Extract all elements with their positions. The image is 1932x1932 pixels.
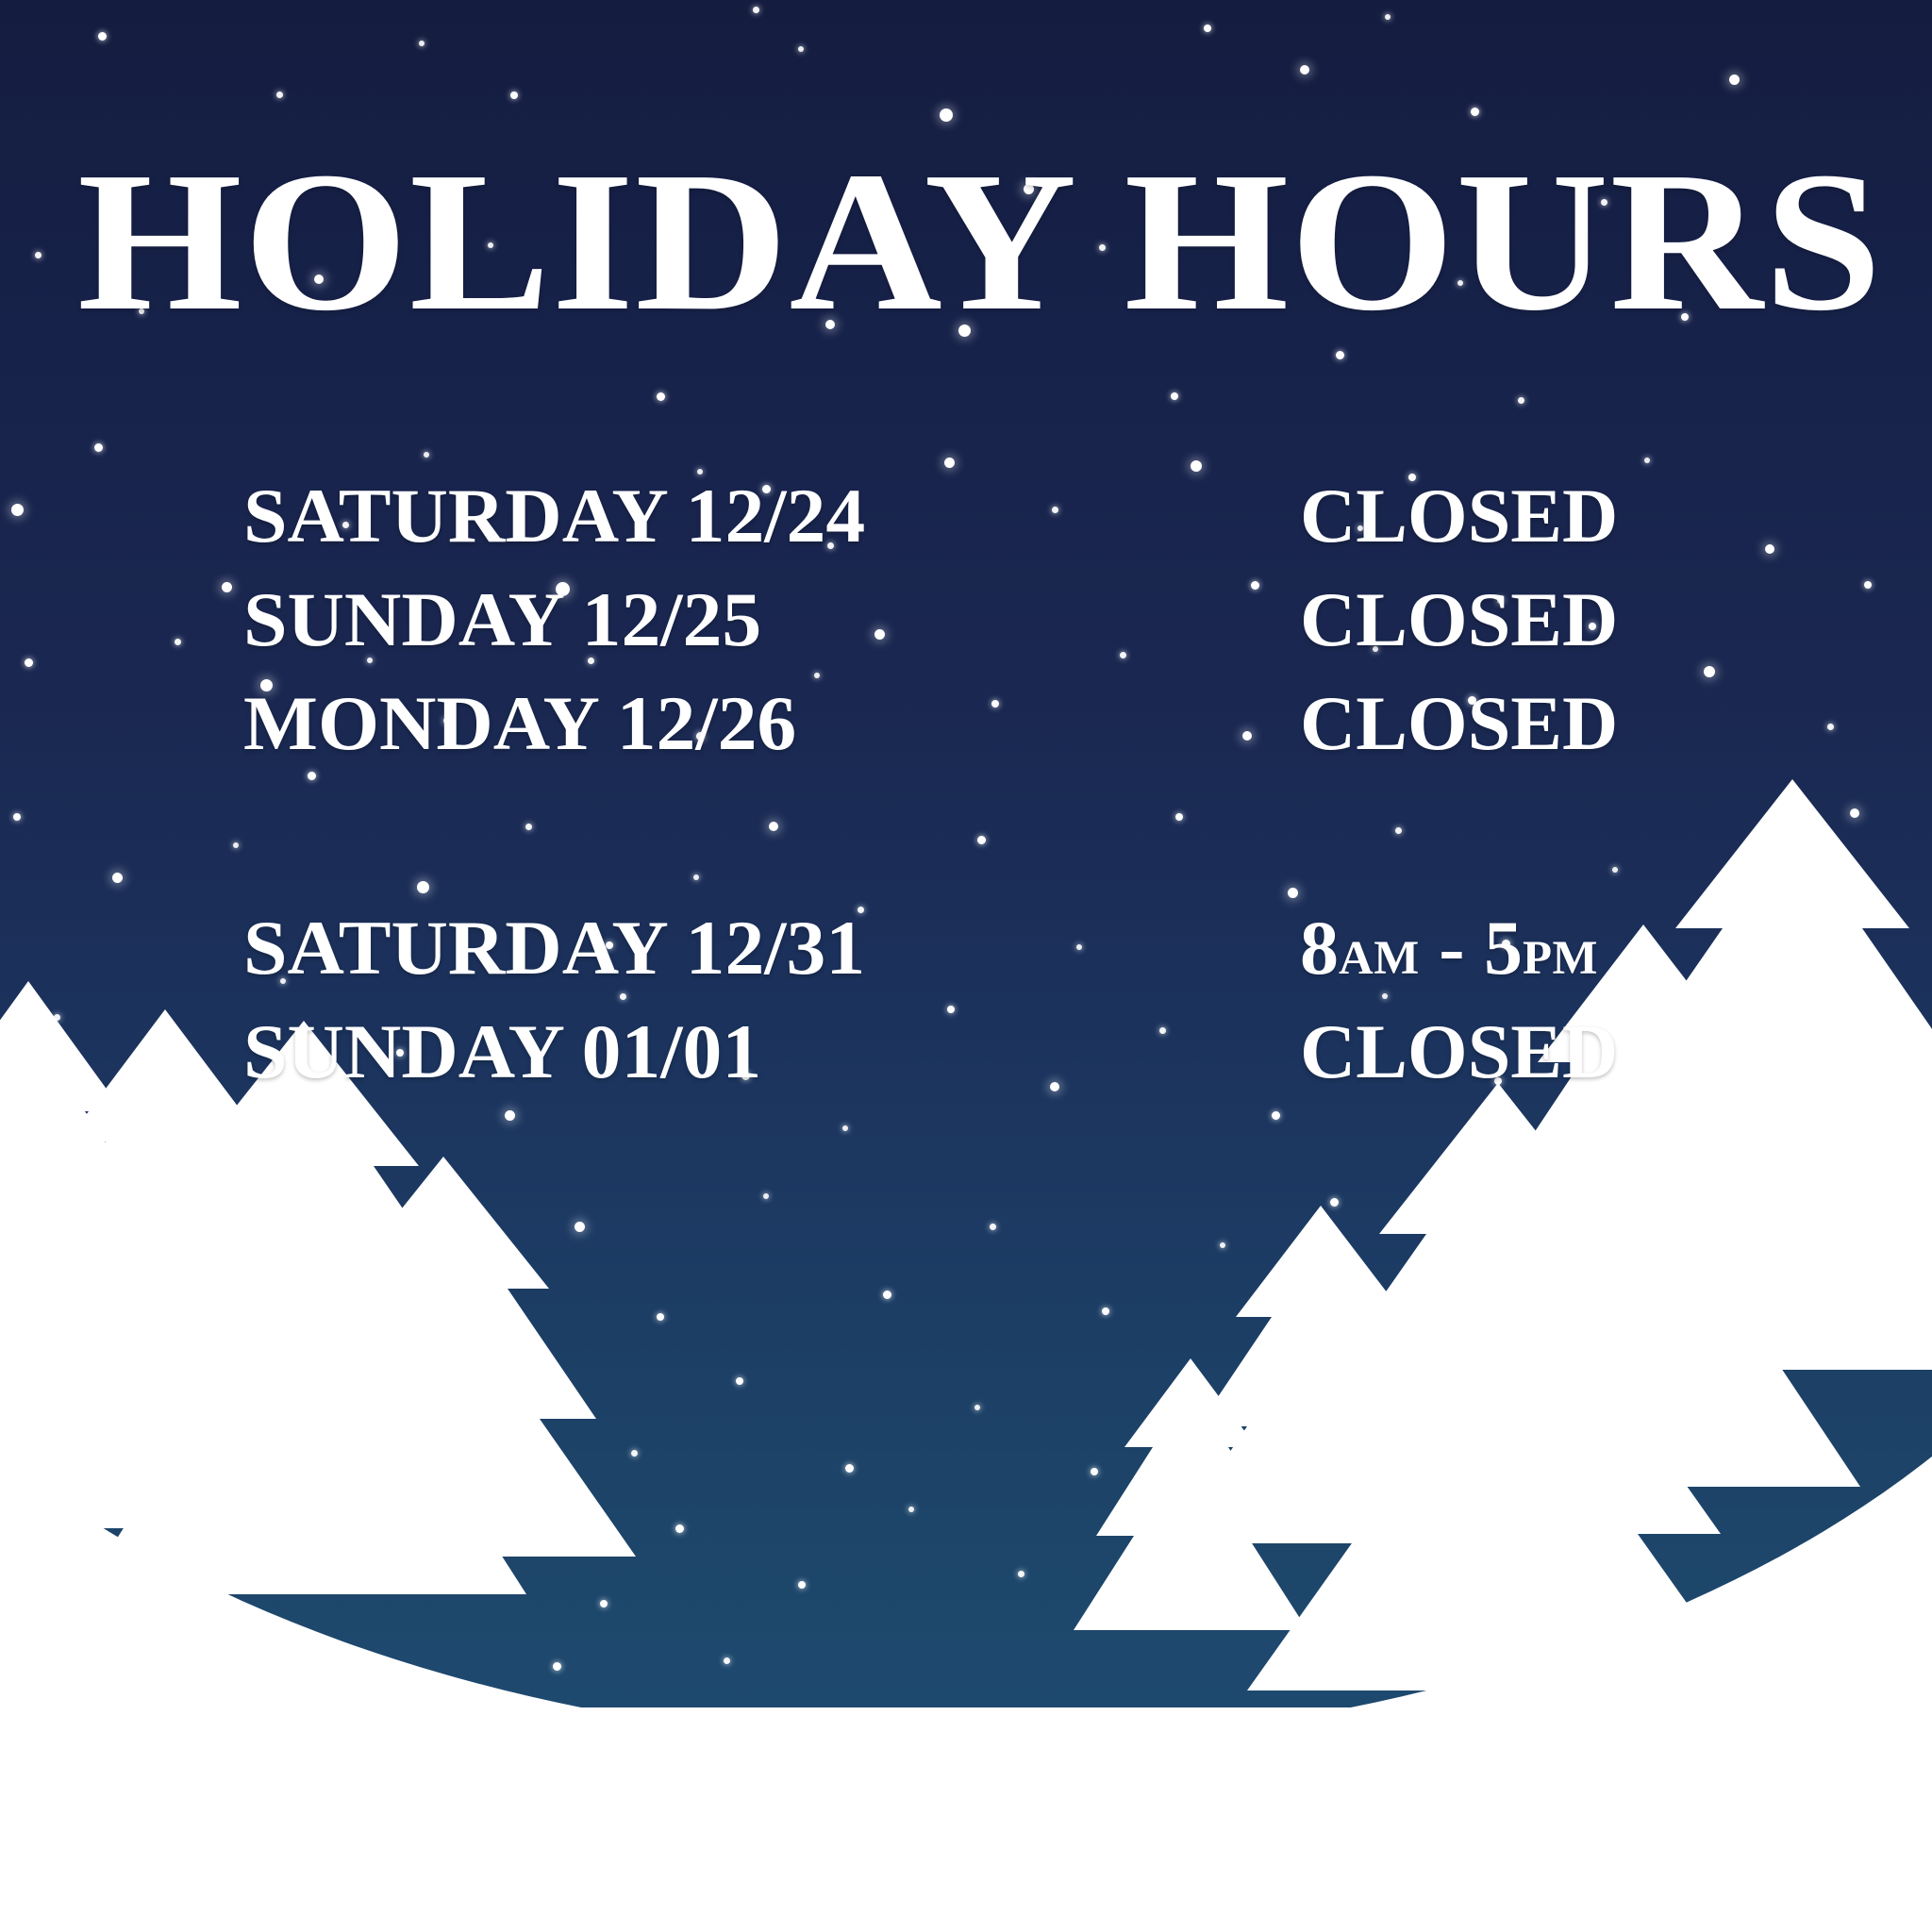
snowflake-dot (35, 252, 42, 258)
snowflake-dot (753, 7, 759, 13)
snowflake-dot (657, 392, 665, 401)
snowflake-dot (1864, 581, 1872, 589)
snowflake-dot (1300, 65, 1309, 75)
snowflake-dot (222, 582, 232, 592)
snowflake-dot (675, 1524, 684, 1533)
schedule-day-label: SATURDAY 12/24 (243, 464, 1321, 568)
schedule-row: SUNDAY 12/25CLOSED (243, 568, 1847, 672)
snowflake-dot (1806, 1209, 1814, 1218)
snowflake-dot (736, 1377, 743, 1385)
snowflake-dot (11, 504, 24, 516)
snowflake-dot (1385, 14, 1391, 20)
snowflake-dot (990, 1224, 996, 1230)
snow-ground (0, 1707, 1932, 1932)
snowflake-dot (1171, 392, 1178, 400)
schedule-row: SATURDAY 12/318AM - 5PM (243, 896, 1847, 1000)
schedule-hours-value: CLOSED (1300, 1000, 1847, 1104)
snowflake-dot (233, 842, 239, 848)
snowflake-dot (798, 46, 804, 52)
snowflake-dot (54, 1014, 60, 1021)
schedule-hours-value: CLOSED (1300, 568, 1847, 672)
schedule-day-label: SATURDAY 12/31 (243, 896, 1321, 1000)
snowflake-dot (1018, 1571, 1024, 1577)
snowflake-dot (657, 1313, 664, 1321)
snowflake-dot (553, 1662, 561, 1671)
snowflake-dot (1204, 25, 1211, 32)
snowflake-dot (13, 813, 21, 821)
snowflake-dot (486, 1391, 495, 1401)
snowflake-dot (940, 108, 953, 122)
snowflake-dot (1518, 397, 1524, 404)
snowflake-dot (1605, 1127, 1611, 1134)
snowflake-dot (883, 1291, 891, 1299)
schedule-day-label: SUNDAY 12/25 (243, 568, 1321, 672)
holiday-schedule: SATURDAY 12/24CLOSEDSUNDAY 12/25CLOSEDMO… (243, 464, 1847, 1104)
snowflake-dot (1272, 1111, 1280, 1120)
snowflake-dot (1471, 108, 1479, 116)
snowflake-dot (1197, 1390, 1204, 1396)
snowflake-dot (724, 1657, 730, 1664)
snowflake-dot (77, 1185, 85, 1192)
schedule-hours-value: CLOSED (1300, 672, 1847, 775)
schedule-row: MONDAY 12/26CLOSED (243, 672, 1847, 775)
snowflake-dot (1102, 1307, 1109, 1315)
snowflake-dot (446, 1295, 453, 1302)
snowflake-dot (1850, 808, 1859, 818)
holiday-hours-poster: HOLIDAY HOURS SATURDAY 12/24CLOSEDSUNDAY… (0, 0, 1932, 1932)
snowflake-dot (195, 1252, 201, 1257)
snowflake-dot (575, 1222, 585, 1232)
snowflake-dot (1644, 458, 1650, 463)
snowflake-dot (798, 1581, 806, 1589)
snowflake-dot (842, 1125, 848, 1131)
snowflake-dot (510, 92, 518, 99)
snowflake-dot (1450, 1318, 1457, 1324)
snowflake-dot (1220, 1242, 1225, 1248)
snowflake-dot (763, 1193, 769, 1199)
snowflake-dot (631, 1450, 638, 1457)
schedule-day-label: SUNDAY 01/01 (243, 1000, 1321, 1104)
snowflake-dot (112, 873, 123, 883)
schedule-group: SATURDAY 12/24CLOSEDSUNDAY 12/25CLOSEDMO… (243, 464, 1847, 775)
schedule-day-label: MONDAY 12/26 (243, 672, 1321, 775)
snowflake-dot (505, 1110, 515, 1121)
schedule-hours-value: CLOSED (1300, 464, 1847, 568)
schedule-row: SUNDAY 01/01CLOSED (243, 1000, 1847, 1104)
snowflake-dot (845, 1464, 854, 1473)
snowflake-dot (419, 41, 425, 46)
snowflake-dot (974, 1405, 980, 1410)
snowflake-dot (94, 443, 103, 452)
page-title: HOLIDAY HOURS (77, 142, 1932, 341)
schedule-hours-value: 8AM - 5PM (1300, 896, 1847, 1009)
snowflake-dot (1729, 75, 1740, 85)
snowflake-dot (276, 92, 283, 98)
snowflake-dot (328, 1215, 337, 1224)
schedule-row: SATURDAY 12/24CLOSED (243, 464, 1847, 568)
snowflake-dot (25, 658, 33, 667)
snowflake-dot (168, 1079, 176, 1088)
snowflake-dot (1564, 1240, 1572, 1247)
snowflake-dot (98, 32, 107, 41)
snowflake-dot (1686, 1305, 1691, 1310)
snowflake-dot (600, 1600, 608, 1607)
schedule-group: SATURDAY 12/318AM - 5PMSUNDAY 01/01CLOSE… (243, 896, 1847, 1104)
snowflake-dot (175, 639, 181, 645)
snowflake-dot (1330, 1198, 1339, 1207)
schedule-group-gap (243, 775, 1847, 896)
snowflake-dot (908, 1507, 914, 1512)
snowflake-dot (424, 452, 429, 458)
snowflake-dot (1091, 1468, 1098, 1475)
